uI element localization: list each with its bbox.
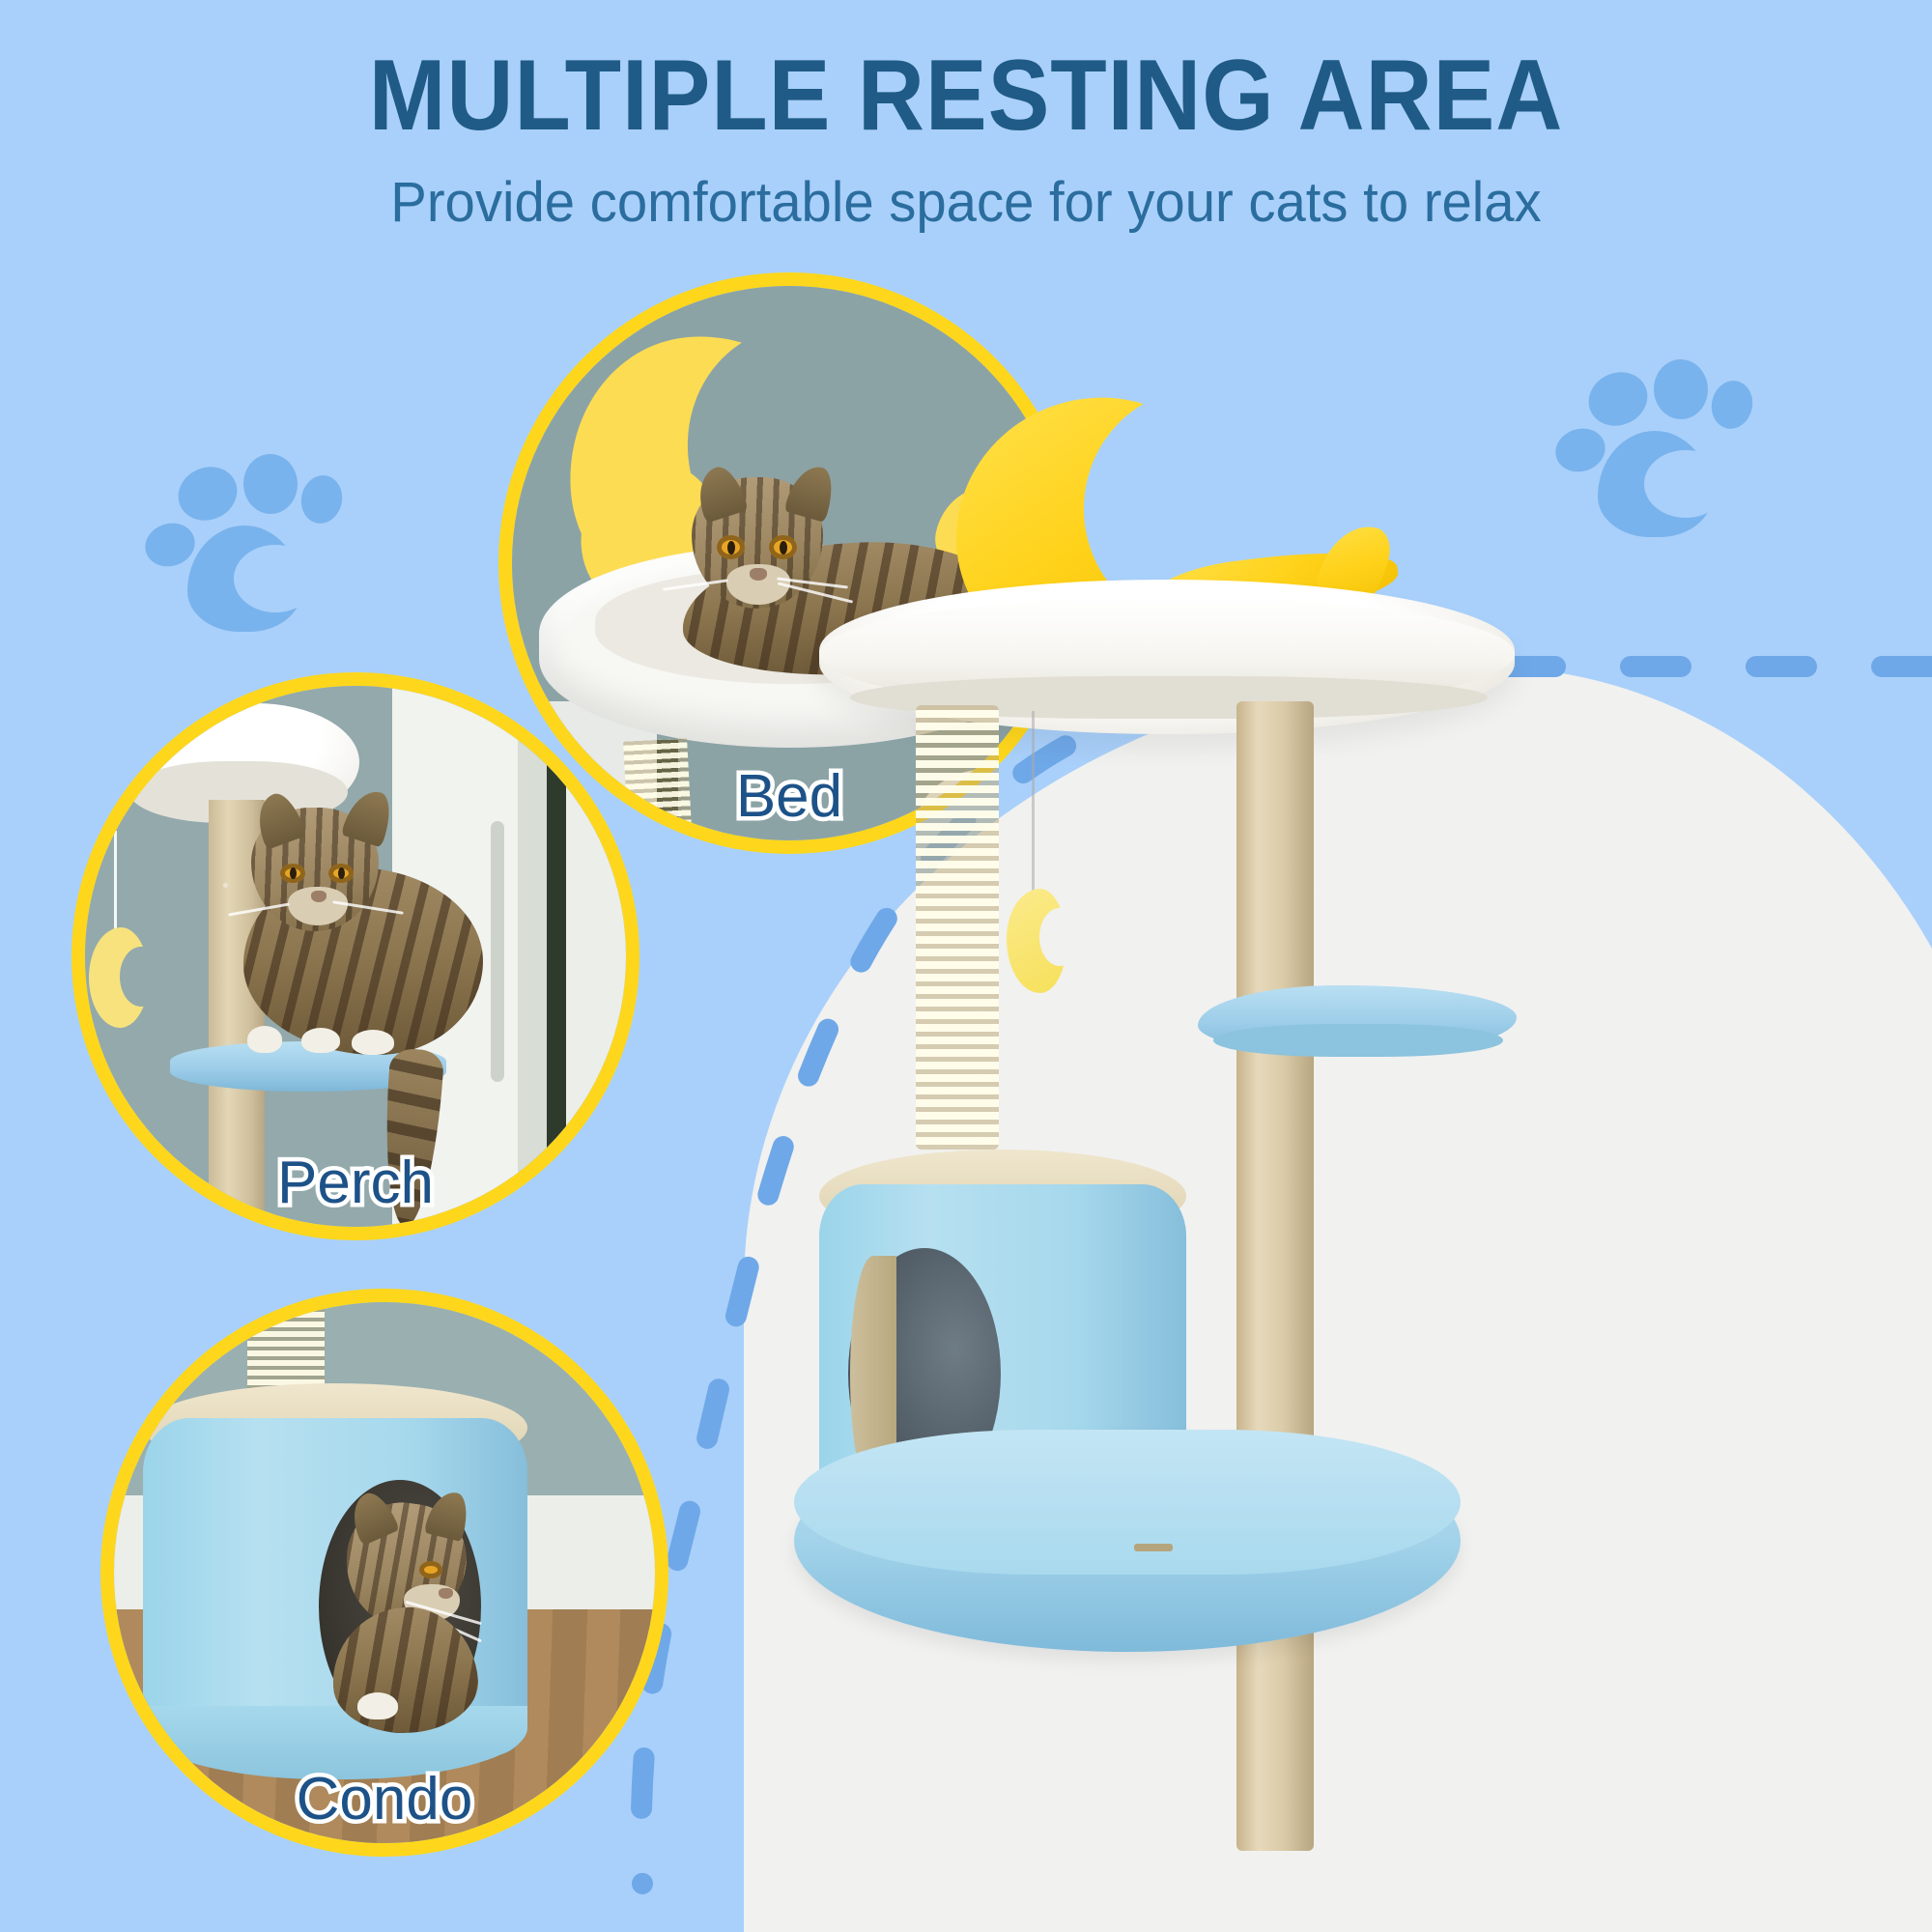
- condo-photo: [114, 1302, 655, 1843]
- base-label: [1134, 1544, 1173, 1551]
- callout-condo[interactable]: Condo: [114, 1302, 655, 1843]
- callout-label-perch: Perch: [85, 1149, 626, 1217]
- callout-label-condo: Condo: [114, 1765, 655, 1833]
- side-perch-shadow: [1213, 1024, 1503, 1057]
- product-photo-cat-tree: [744, 386, 1932, 1932]
- infographic-canvas: MULTIPLE RESTING AREA Provide comfortabl…: [0, 0, 1932, 1932]
- base-top-face: [794, 1430, 1461, 1575]
- carpet-post: [1236, 701, 1314, 1851]
- callout-label-bed: Bed: [512, 762, 1066, 831]
- hanging-toy-notch: [1039, 908, 1080, 966]
